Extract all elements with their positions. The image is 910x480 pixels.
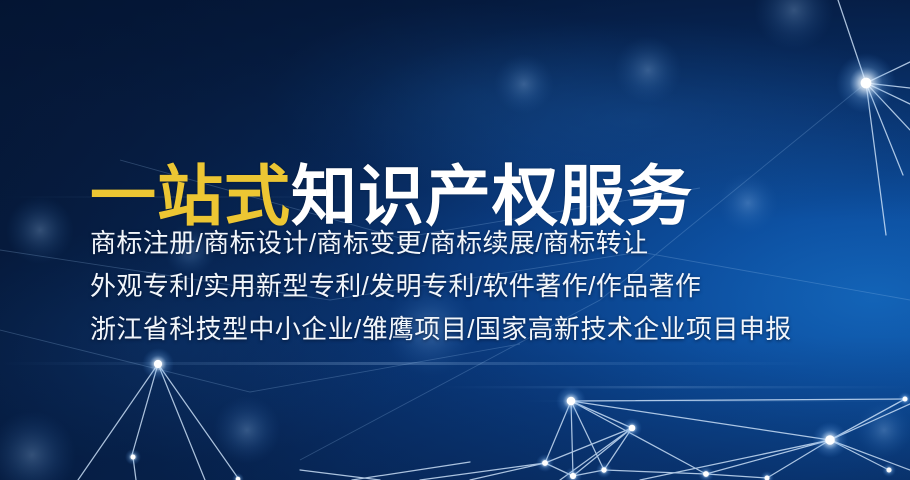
hero-banner: 一站式知识产权服务 商标注册/商标设计/商标变更/商标续展/商标转让 外观专利/… bbox=[0, 0, 910, 480]
hero-text-block: 一站式知识产权服务 商标注册/商标设计/商标变更/商标续展/商标转让 外观专利/… bbox=[90, 0, 850, 480]
service-list: 商标注册/商标设计/商标变更/商标续展/商标转让 外观专利/实用新型专利/发明专… bbox=[90, 222, 792, 351]
service-line-patent: 外观专利/实用新型专利/发明专利/软件著作/作品著作 bbox=[90, 265, 792, 308]
service-line-trademark: 商标注册/商标设计/商标变更/商标续展/商标转让 bbox=[90, 222, 792, 265]
service-line-program: 浙江省科技型中小企业/雏鹰项目/国家高新技术企业项目申报 bbox=[90, 308, 792, 351]
